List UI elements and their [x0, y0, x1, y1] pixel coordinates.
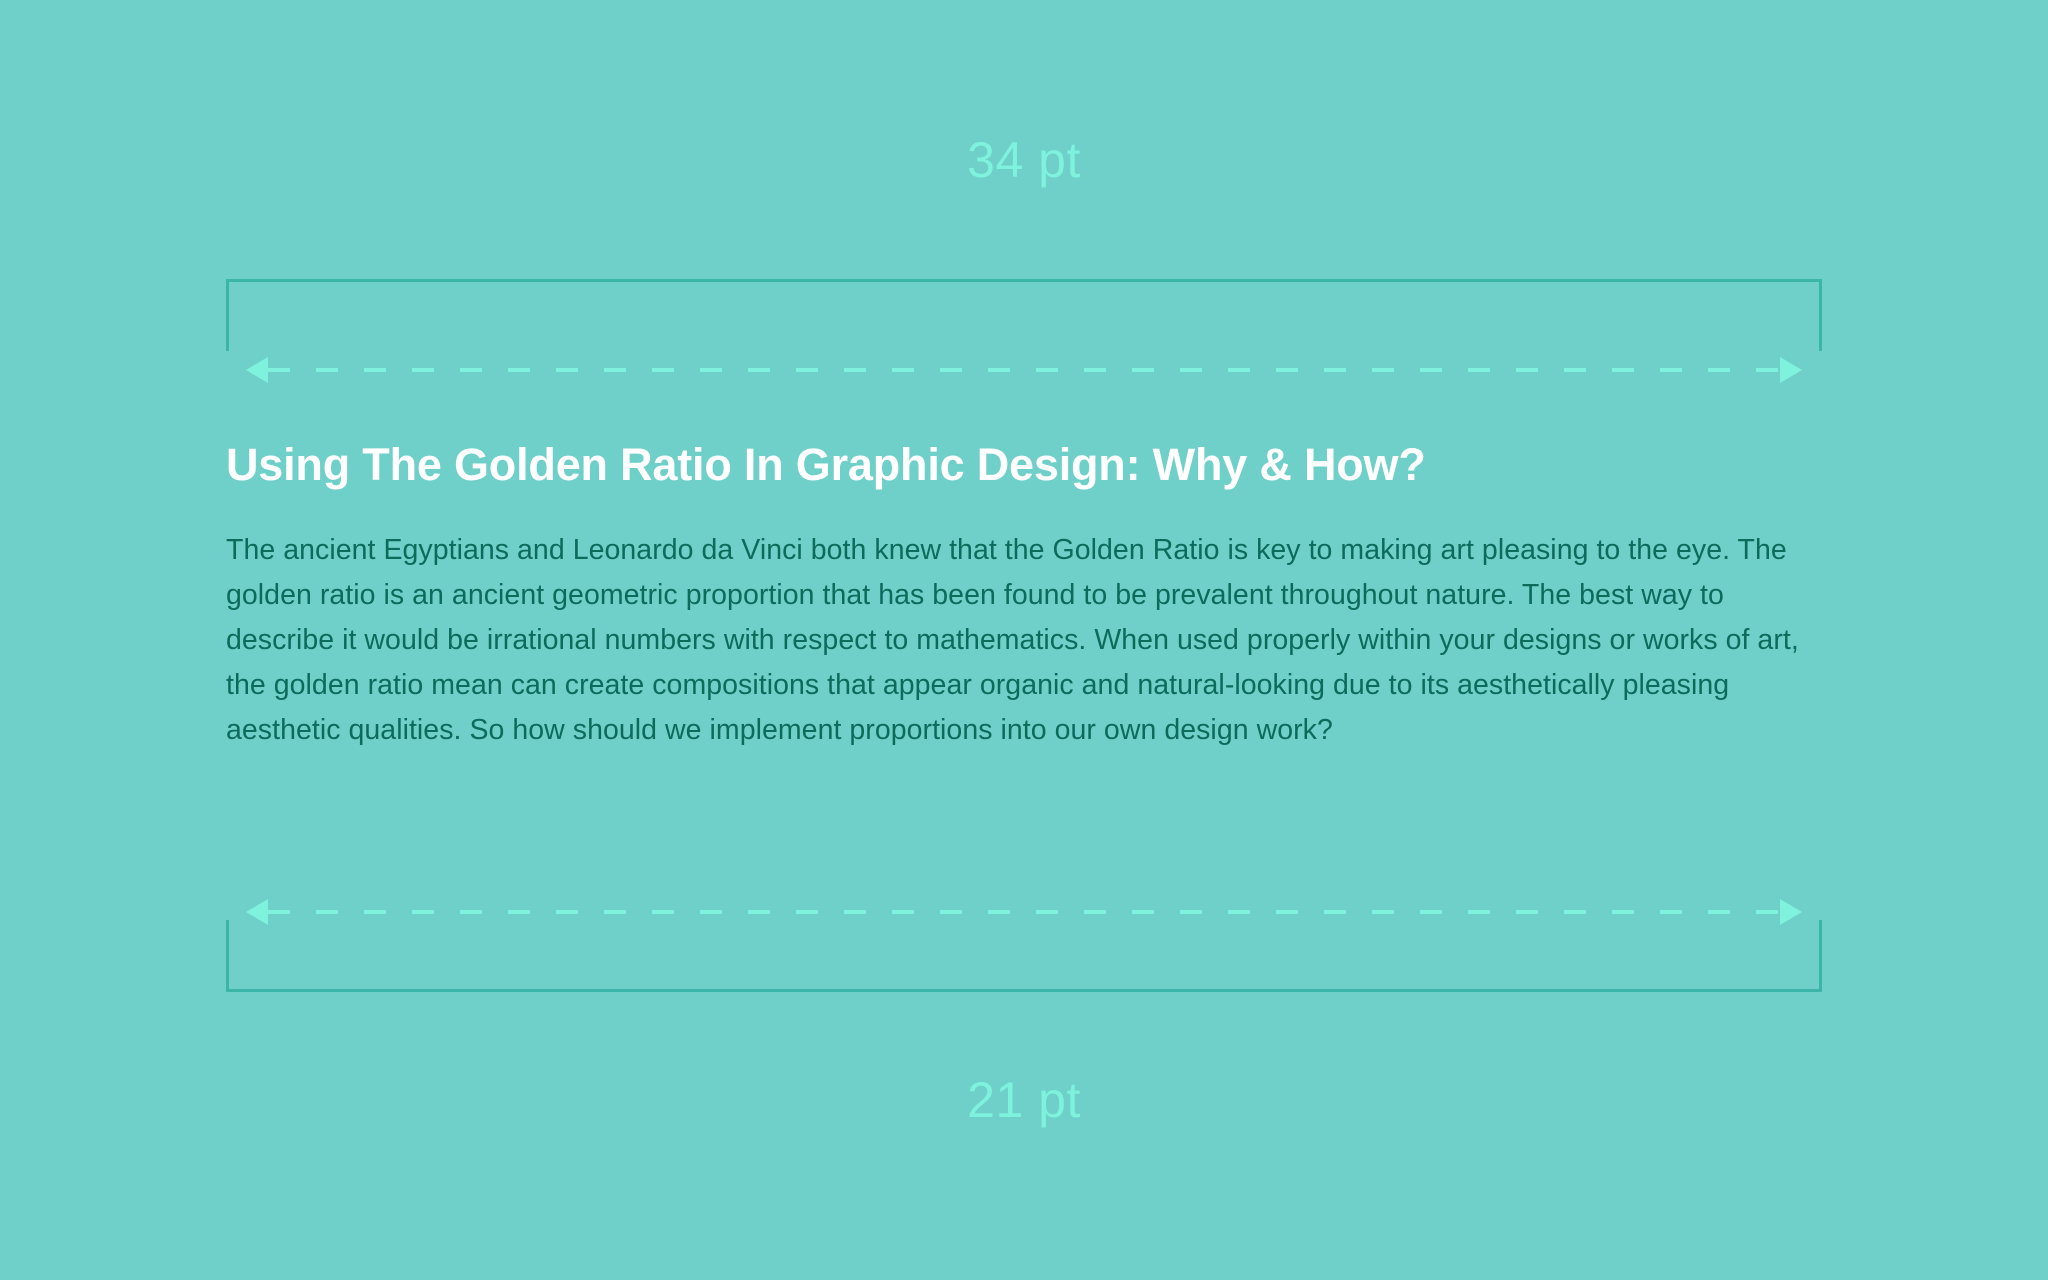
body-size-label: 21 pt: [0, 1075, 2048, 1125]
page-title: Using The Golden Ratio In Graphic Design…: [226, 440, 1826, 490]
dashed-line: [268, 910, 1780, 914]
specimen-text-block: Using The Golden Ratio In Graphic Design…: [226, 440, 1826, 753]
arrow-left-icon: [246, 357, 268, 383]
heading-size-label: 34 pt: [0, 135, 2048, 185]
heading-measure-bracket: [226, 279, 1822, 351]
body-measure-bracket: [226, 920, 1822, 992]
heading-measure-arrow: [246, 355, 1802, 385]
dashed-line: [268, 368, 1780, 372]
body-paragraph: The ancient Egyptians and Leonardo da Vi…: [226, 528, 1826, 753]
arrow-right-icon: [1780, 357, 1802, 383]
typography-specimen-canvas: 34 pt Using The Golden Ratio In Graphic …: [0, 0, 2048, 1280]
